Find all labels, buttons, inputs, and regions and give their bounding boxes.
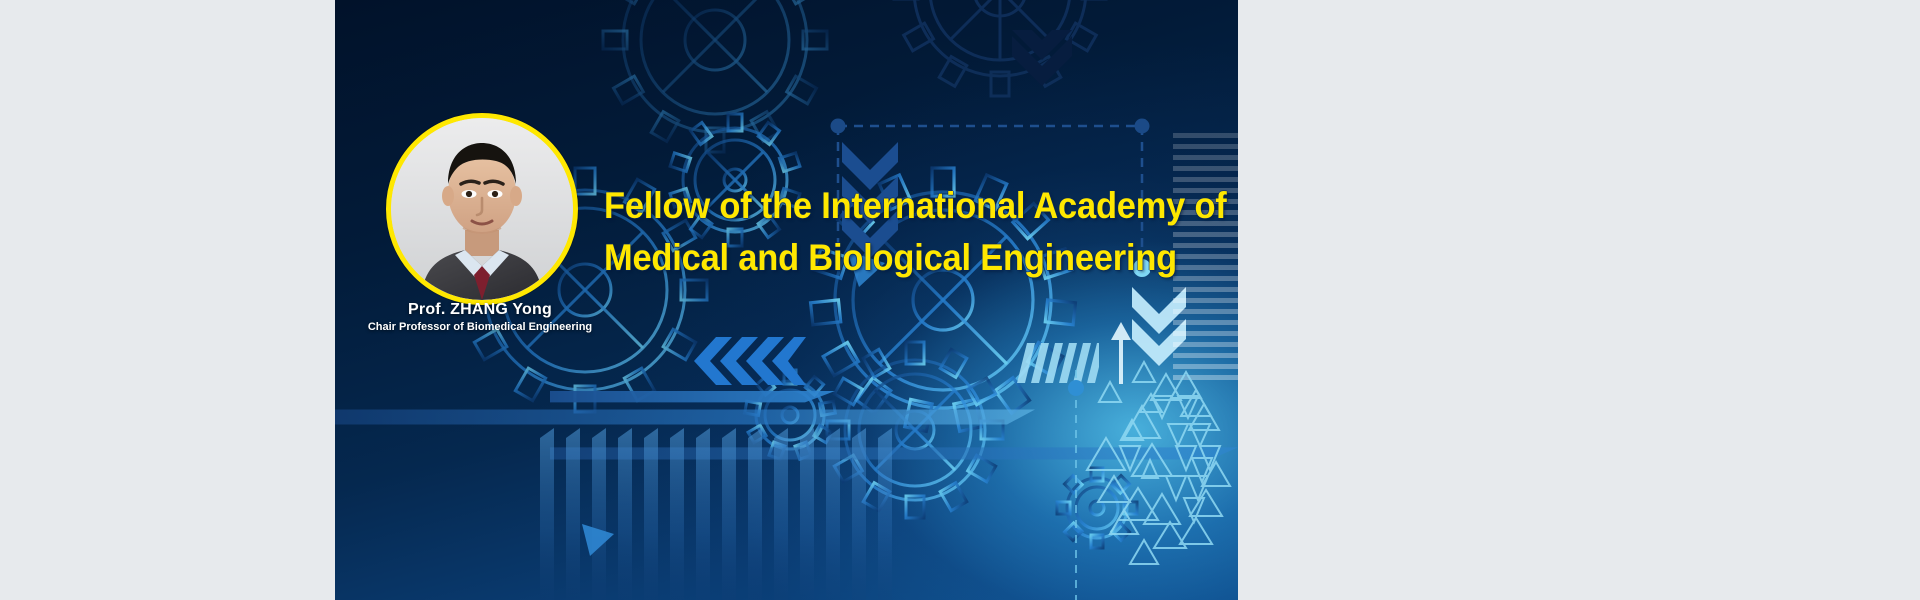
page-title: Fellow of the International Academy of M… (604, 180, 1162, 284)
portrait-illustration (391, 118, 573, 300)
left-chevron-arrows (690, 335, 806, 387)
person-name: Prof. ZHANG Yong (335, 300, 625, 319)
triangle-accent-left (580, 520, 620, 560)
headline-line-1: Fellow of the International Academy of (604, 180, 1162, 232)
person-caption: Prof. ZHANG Yong Chair Professor of Biom… (335, 300, 625, 335)
vertical-slat-bars (540, 428, 960, 600)
person-role: Chair Professor of Biomedical Engineerin… (335, 320, 625, 335)
triangle-cluster (1080, 350, 1238, 600)
horizontal-stripe-block (1173, 133, 1238, 383)
hero-banner: Prof. ZHANG Yong Chair Professor of Biom… (335, 0, 1238, 600)
page-surface: Prof. ZHANG Yong Chair Professor of Biom… (0, 0, 1920, 600)
down-chevron-arrows-dark (1010, 30, 1074, 90)
avatar (386, 113, 578, 305)
headline-line-2: Medical and Biological Engineering (604, 232, 1162, 284)
avatar-image (391, 118, 573, 300)
